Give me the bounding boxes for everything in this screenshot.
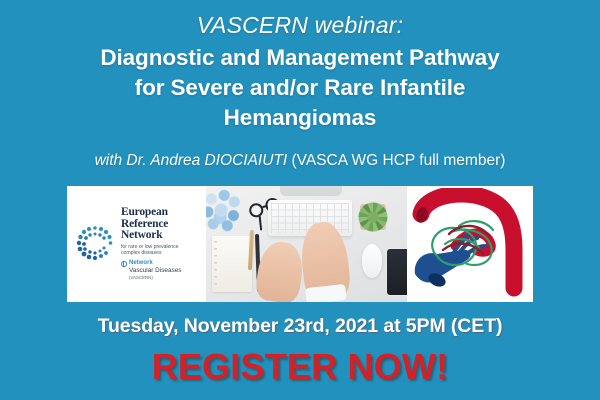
glasses-temple (259, 215, 263, 230)
shirt-cuff (305, 284, 346, 302)
ern-network-label: Network (129, 260, 206, 267)
notebook (212, 236, 252, 292)
smartphone (386, 248, 407, 296)
presenter-role: (VASCA WG HCP full member) (287, 152, 505, 169)
ern-acronym: (VASCERN) (129, 275, 206, 281)
ern-name-line-1: European (121, 207, 206, 219)
desk-photo (206, 186, 407, 302)
ern-name: European Reference Network (121, 207, 206, 242)
presenter-line: with Dr. Andrea DIOCIAIUTI (VASCA WG HCP… (0, 150, 600, 172)
ern-dots-spiral-icon (74, 223, 116, 265)
vascular-illustration (407, 186, 533, 302)
title-line-2: for Severe and/or Rare Infantile (0, 73, 600, 103)
page-title: Diagnostic and Management Pathway for Se… (0, 40, 600, 133)
event-date: Tuesday, November 23rd, 2021 at 5PM (CET… (0, 313, 600, 339)
presenter-name: with Dr. Andrea DIOCIAIUTI (95, 152, 288, 169)
ern-network-block: Network Vascular Diseases (VASCERN) (121, 260, 206, 281)
title-line-1: Diagnostic and Management Pathway (0, 43, 600, 73)
register-now-cta[interactable]: REGISTER NOW! (0, 345, 600, 389)
logo-text-block: European Reference Network for rare or l… (121, 207, 206, 281)
ern-tagline: for rare or low prevalence complex disea… (121, 244, 206, 256)
succulent-plant (356, 200, 390, 234)
plant-leaves (358, 202, 388, 232)
headline-block: VASCERN webinar: Diagnostic and Manageme… (0, 10, 600, 133)
vascern-logo: European Reference Network for rare or l… (67, 186, 206, 302)
ern-name-line-3: Network (121, 230, 206, 242)
globe-icon (121, 261, 127, 267)
monitor-edge (280, 186, 342, 196)
lens-left (247, 201, 265, 219)
ern-tagline-line-2: complex diseases (121, 250, 206, 256)
hydrangea-flowers (206, 188, 244, 234)
ern-network-subject: Vascular Diseases (129, 267, 206, 275)
media-strip: European Reference Network for rare or l… (67, 186, 533, 302)
computer-mouse (362, 244, 382, 278)
eyebrow-text: VASCERN webinar: (0, 10, 600, 40)
webinar-poster: VASCERN webinar: Diagnostic and Manageme… (0, 0, 600, 400)
title-line-3: Hemangiomas (0, 103, 600, 133)
